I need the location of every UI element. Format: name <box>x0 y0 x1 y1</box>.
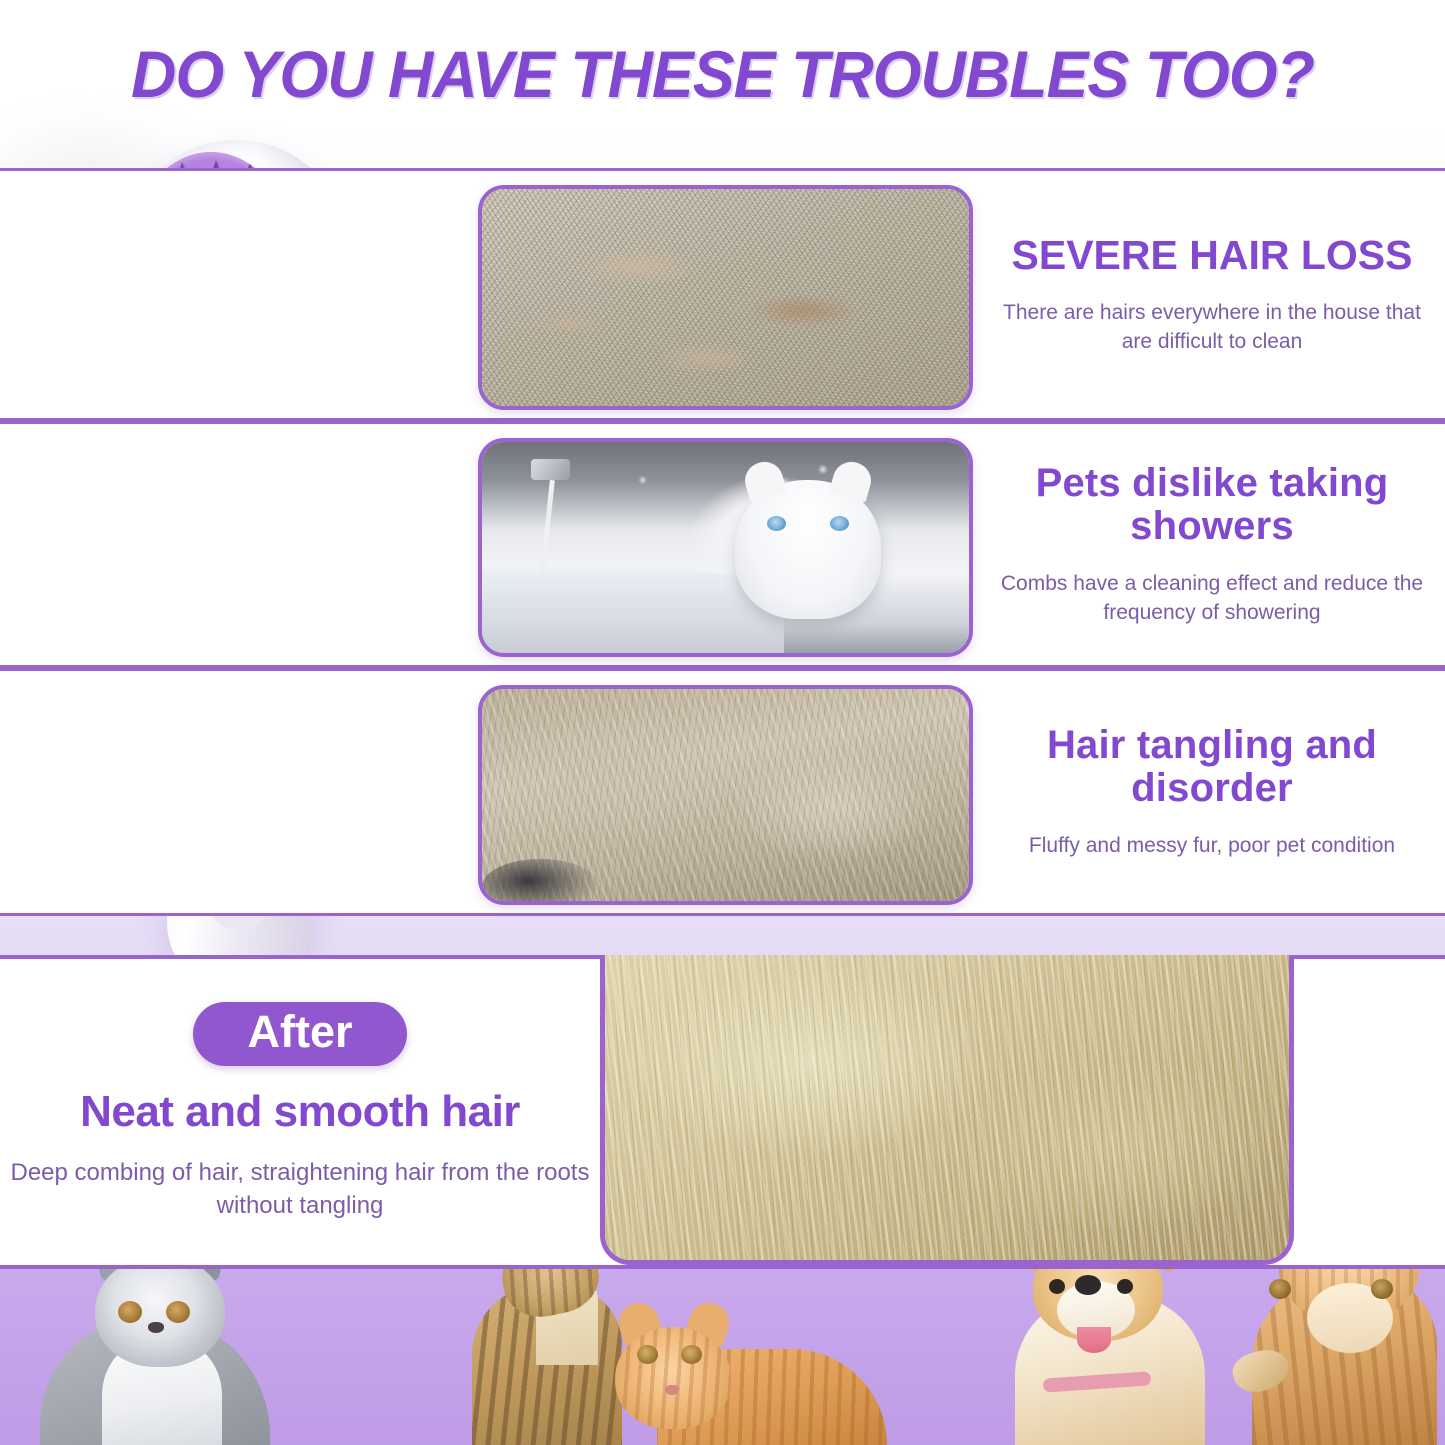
problem-copy: Hair tangling and disorder Fluffy and me… <box>985 671 1439 913</box>
faucet-icon <box>531 459 570 480</box>
problem-subtext: Combs have a cleaning effect and reduce … <box>999 570 1425 627</box>
photo-hair-on-carpet <box>478 185 973 410</box>
pet-photo-strip <box>0 1265 1445 1445</box>
pet-grey-white-cat <box>40 1265 270 1445</box>
problem-copy: Pets dislike taking showers Combs have a… <box>985 424 1439 665</box>
photo-cat-in-bathtub <box>478 438 973 657</box>
problem-heading: SEVERE HAIR LOSS <box>1012 233 1413 277</box>
problem-subtext: There are hairs everywhere in the house … <box>999 299 1425 356</box>
after-section: After Neat and smooth hair Deep combing … <box>0 955 1445 1265</box>
problem-card: Hair tangling and disorder Fluffy and me… <box>0 668 1445 916</box>
problem-heading: Pets dislike taking showers <box>999 462 1425 548</box>
pet-corgi-dog <box>985 1265 1235 1445</box>
cat-in-tub <box>735 480 881 619</box>
after-copy: After Neat and smooth hair Deep combing … <box>0 959 600 1265</box>
photo-smooth-fur <box>600 955 1294 1265</box>
photo-tangled-fur <box>478 685 973 905</box>
infographic-canvas: DO YOU HAVE THESE TROUBLES TOO? <box>0 0 1445 1445</box>
page-title: DO YOU HAVE THESE TROUBLES TOO? <box>36 36 1409 112</box>
problem-copy: SEVERE HAIR LOSS There are hairs everywh… <box>985 171 1439 418</box>
after-badge: After <box>193 1002 406 1066</box>
after-subtext: Deep combing of hair, straightening hair… <box>0 1156 600 1222</box>
problem-heading: Hair tangling and disorder <box>999 724 1425 810</box>
pet-fluffy-ginger-cat <box>1222 1265 1437 1445</box>
after-heading: Neat and smooth hair <box>80 1088 520 1136</box>
problem-subtext: Fluffy and messy fur, poor pet condition <box>1029 832 1395 860</box>
pet-ginger-cat <box>615 1310 885 1445</box>
problem-card: Pets dislike taking showers Combs have a… <box>0 421 1445 668</box>
problem-card: SEVERE HAIR LOSS There are hairs everywh… <box>0 168 1445 421</box>
water-stream <box>540 480 555 573</box>
